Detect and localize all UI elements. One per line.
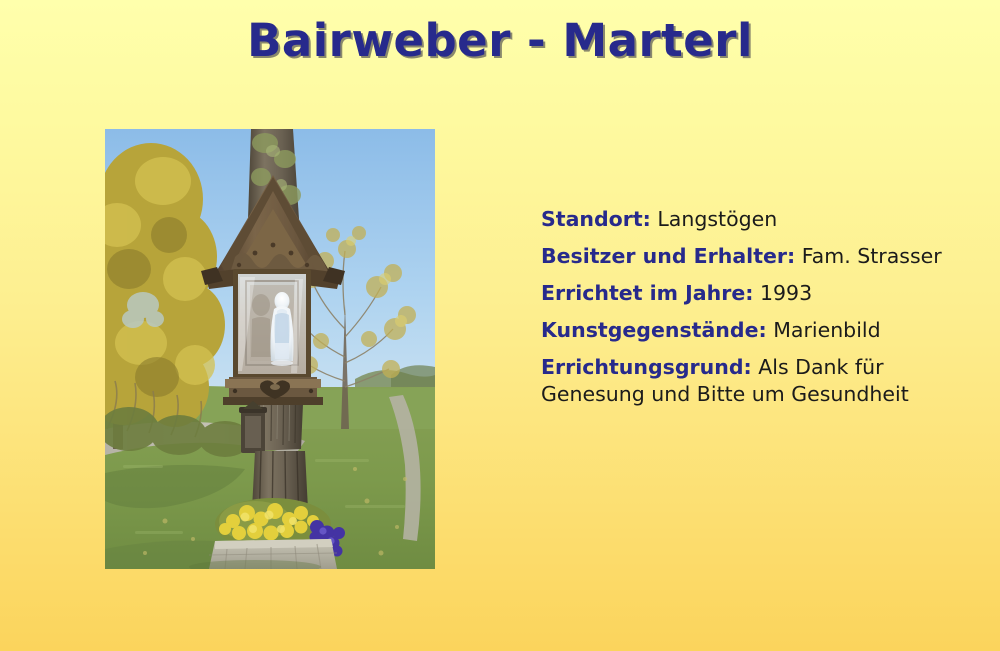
info-row-errichtungsgrund: Errichtungsgrund: Als Dank für Genesung …	[541, 354, 961, 410]
info-value-errichtet: 1993	[760, 281, 812, 305]
slide-root: Bairweber - Marterl	[0, 0, 1000, 651]
info-value-kunstgegenstaende: Marienbild	[773, 318, 880, 342]
info-row-errichtet: Errichtet im Jahre: 1993	[541, 280, 961, 308]
info-label-standort: Standort:	[541, 207, 651, 231]
info-row-besitzer: Besitzer und Erhalter: Fam. Strasser	[541, 243, 961, 271]
info-value-besitzer: Fam. Strasser	[802, 244, 942, 268]
info-label-errichtungsgrund: Errichtungsgrund:	[541, 355, 752, 379]
info-value-standort: Langstögen	[657, 207, 777, 231]
info-row-kunstgegenstaende: Kunstgegenstände: Marienbild	[541, 317, 961, 345]
shrine-photo-image	[105, 129, 435, 569]
page-title: Bairweber - Marterl	[0, 14, 1000, 67]
shrine-photo	[105, 129, 435, 569]
info-label-errichtet: Errichtet im Jahre:	[541, 281, 753, 305]
info-label-besitzer: Besitzer und Erhalter:	[541, 244, 795, 268]
info-row-standort: Standort: Langstögen	[541, 206, 961, 234]
shrine-info-list: Standort: Langstögen Besitzer und Erhalt…	[541, 206, 961, 418]
info-label-kunstgegenstaende: Kunstgegenstände:	[541, 318, 767, 342]
